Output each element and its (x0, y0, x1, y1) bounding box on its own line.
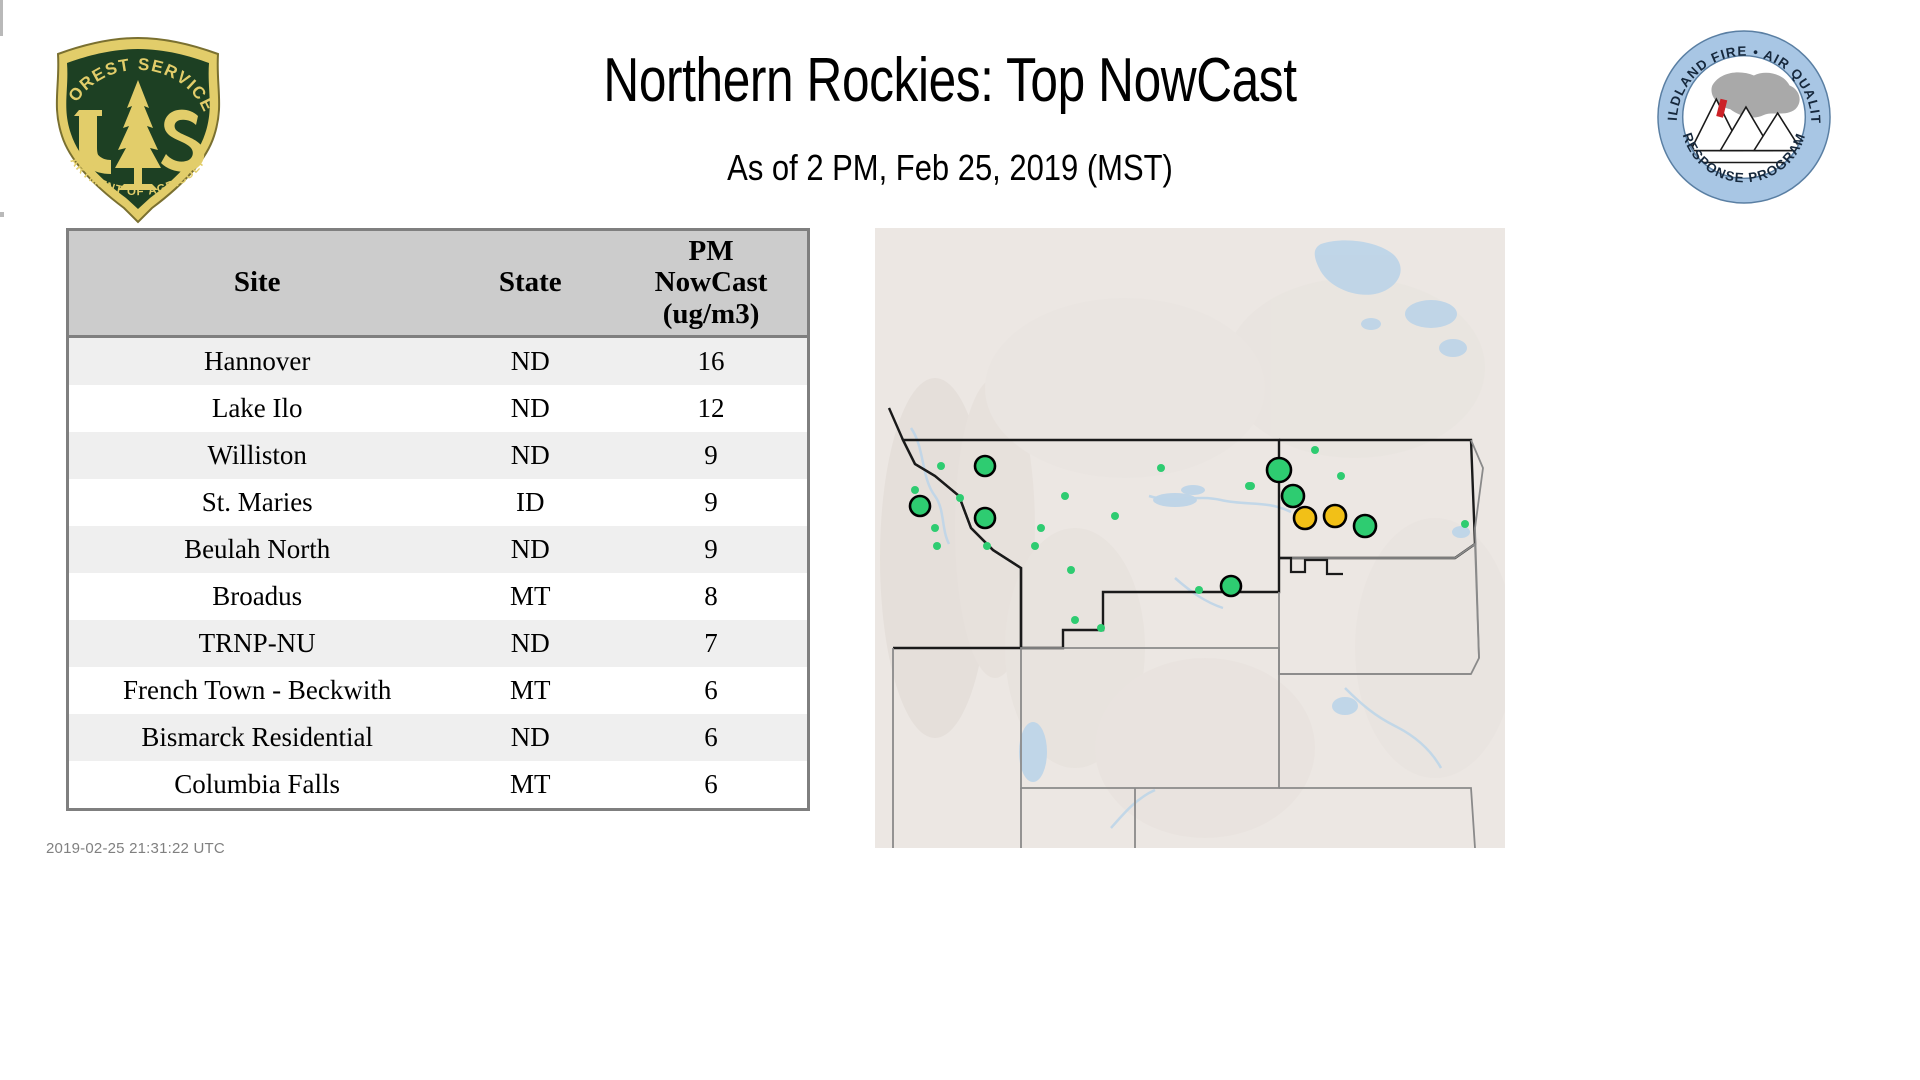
map-marker-4[interactable] (956, 494, 964, 502)
pm-cell: 16 (615, 337, 807, 386)
table-row: Columbia FallsMT6 (69, 761, 807, 808)
column-header-site: Site (69, 231, 445, 337)
map-marker-3[interactable] (910, 496, 930, 516)
table-row: BroadusMT8 (69, 573, 807, 620)
pm-cell: 12 (615, 385, 807, 432)
pm-cell: 6 (615, 667, 807, 714)
state-cell: ND (445, 385, 615, 432)
left-edge-artifact-mid (0, 212, 4, 217)
map-marker-24[interactable] (1337, 472, 1345, 480)
map-marker-12[interactable] (1067, 566, 1075, 574)
table-row: French Town - BeckwithMT6 (69, 667, 807, 714)
site-cell: Broadus (69, 573, 445, 620)
state-cell: ND (445, 620, 615, 667)
map-marker-18[interactable] (1195, 586, 1203, 594)
pm-header-line1: PM (615, 236, 807, 267)
table-row: St. MariesID9 (69, 479, 807, 526)
site-cell: Bismarck Residential (69, 714, 445, 761)
site-cell: Beulah North (69, 526, 445, 573)
state-cell: ND (445, 526, 615, 573)
map-marker-0[interactable] (911, 486, 919, 494)
map-marker-23[interactable] (1311, 446, 1319, 454)
column-header-pm-nowcast: PM NowCast (ug/m3) (615, 231, 807, 337)
usfs-shield-logo: FOREST SERVICE DEPARTMENT OF AGRICULTURE (48, 32, 228, 224)
map-marker-26[interactable] (1354, 515, 1376, 537)
site-cell: Lake Ilo (69, 385, 445, 432)
map-marker-11[interactable] (1031, 542, 1039, 550)
map-marker-17[interactable] (1097, 624, 1105, 632)
map-marker-16[interactable] (1071, 616, 1079, 624)
pm-header-line3: (ug/m3) (615, 299, 807, 330)
map-marker-6[interactable] (931, 524, 939, 532)
column-header-state: State (445, 231, 615, 337)
monitor-location-map[interactable] (875, 228, 1505, 848)
state-cell: ID (445, 479, 615, 526)
table-header-row: Site State PM NowCast (ug/m3) (69, 231, 807, 337)
map-marker-10[interactable] (1061, 492, 1069, 500)
slide-root: FOREST SERVICE DEPARTMENT OF AGRICULTURE (0, 0, 1920, 1080)
generation-timestamp: 2019-02-25 21:31:22 UTC (46, 840, 225, 857)
map-marker-13[interactable] (1111, 512, 1119, 520)
map-marker-22[interactable] (1294, 507, 1316, 529)
site-cell: French Town - Beckwith (69, 667, 445, 714)
site-cell: Columbia Falls (69, 761, 445, 808)
left-edge-artifact-top (0, 0, 3, 36)
map-marker-7[interactable] (933, 542, 941, 550)
pm-cell: 8 (615, 573, 807, 620)
map-marker-27[interactable] (1247, 482, 1255, 490)
nowcast-table: Site State PM NowCast (ug/m3) HannoverND… (69, 231, 807, 808)
pm-cell: 7 (615, 620, 807, 667)
pm-cell: 9 (615, 432, 807, 479)
map-marker-25[interactable] (1324, 505, 1346, 527)
wfaqrp-circular-logo: WILDLAND FIRE • AIR QUALITY RESPONSE PRO… (1655, 28, 1833, 206)
map-marker-2[interactable] (975, 456, 995, 476)
site-cell: Williston (69, 432, 445, 479)
state-cell: MT (445, 761, 615, 808)
site-cell: Hannover (69, 337, 445, 386)
map-marker-5[interactable] (975, 508, 995, 528)
table-row: Bismarck ResidentialND6 (69, 714, 807, 761)
table-row: Lake IloND12 (69, 385, 807, 432)
map-marker-19[interactable] (1221, 576, 1241, 596)
pm-cell: 6 (615, 714, 807, 761)
map-marker-8[interactable] (983, 542, 991, 550)
table-row: Beulah NorthND9 (69, 526, 807, 573)
map-marker-20[interactable] (1267, 458, 1291, 482)
table-body: HannoverND16Lake IloND12WillistonND9St. … (69, 337, 807, 809)
state-cell: ND (445, 337, 615, 386)
pm-header-line2: NowCast (615, 267, 807, 298)
state-cell: MT (445, 573, 615, 620)
table-row: WillistonND9 (69, 432, 807, 479)
nowcast-table-container: Site State PM NowCast (ug/m3) HannoverND… (66, 228, 810, 811)
map-marker-21[interactable] (1282, 485, 1304, 507)
page-title: Northern Rockies: Top NowCast (390, 48, 1510, 113)
table-row: HannoverND16 (69, 337, 807, 386)
state-cell: MT (445, 667, 615, 714)
pm-cell: 9 (615, 479, 807, 526)
map-marker-1[interactable] (937, 462, 945, 470)
site-cell: TRNP-NU (69, 620, 445, 667)
map-marker-28[interactable] (1461, 520, 1469, 528)
table-header: Site State PM NowCast (ug/m3) (69, 231, 807, 337)
pm-cell: 9 (615, 526, 807, 573)
site-cell: St. Maries (69, 479, 445, 526)
map-marker-14[interactable] (1157, 464, 1165, 472)
state-cell: ND (445, 714, 615, 761)
map-marker-9[interactable] (1037, 524, 1045, 532)
page-subtitle: As of 2 PM, Feb 25, 2019 (MST) (348, 148, 1552, 188)
table-row: TRNP-NUND7 (69, 620, 807, 667)
pm-cell: 6 (615, 761, 807, 808)
state-cell: ND (445, 432, 615, 479)
